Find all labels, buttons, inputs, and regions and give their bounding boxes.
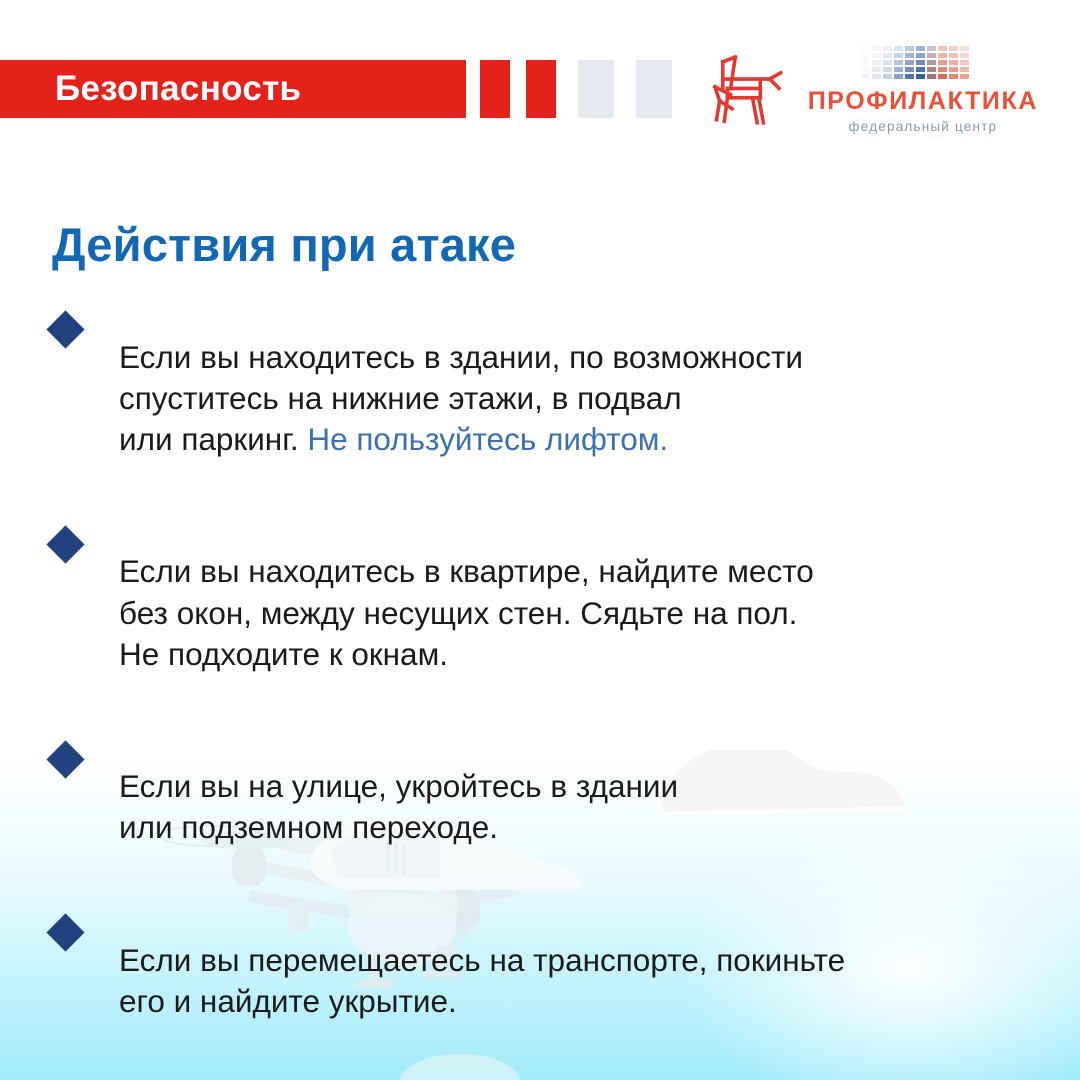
- logo-text-group: ПРОФИЛАКТИКА федеральный центр: [808, 46, 1038, 134]
- category-label: Безопасность: [0, 69, 301, 109]
- bar-gap-2: [510, 60, 526, 118]
- bar-gap-4: [614, 60, 636, 118]
- brand-logo: ПРОФИЛАКТИКА федеральный центр: [704, 46, 1038, 134]
- list-item-lead: Если вы на улице, укройтесь в здании или…: [119, 768, 678, 845]
- header-category-bar: Безопасность: [0, 60, 672, 118]
- list-item: Если вы находитесь в квартире, найдите м…: [52, 520, 1042, 707]
- logo-wordmark: ПРОФИЛАКТИКА: [808, 89, 1038, 114]
- list-item-text: Если вы находитесь в квартире, найдите м…: [119, 551, 1042, 675]
- diamond-bullet-icon: [46, 525, 84, 563]
- diamond-bullet-icon: [46, 740, 84, 778]
- pixel-grid-icon: [861, 46, 985, 84]
- advice-bullet-list: Если вы находитесь в здании, по возможно…: [52, 305, 1042, 1080]
- page-title: Действия при атаке: [52, 217, 516, 272]
- bar-gap-1: [466, 60, 480, 118]
- list-item-lead: Если вы находитесь в квартире, найдите м…: [119, 553, 814, 672]
- list-item: Если вы перемещаетесь на транспорте, пок…: [52, 908, 1042, 1054]
- list-item: Если вы находитесь в здании, по возможно…: [52, 305, 1042, 492]
- category-banner: Безопасность: [0, 60, 466, 118]
- bar-segment-gray-2: [636, 60, 672, 118]
- diamond-bullet-icon: [46, 310, 84, 348]
- bar-gap-3: [556, 60, 578, 118]
- list-item-text: Если вы на улице, укройтесь в здании или…: [119, 766, 1042, 849]
- bar-segment-red-2: [526, 60, 556, 118]
- list-item-text: Если вы перемещаетесь на транспорте, пок…: [119, 940, 1042, 1023]
- poster-canvas: Безопасность: [0, 0, 1080, 1080]
- diamond-bullet-icon: [46, 913, 84, 951]
- logo-subtitle: федеральный центр: [848, 119, 997, 134]
- bar-segment-gray-1: [578, 60, 614, 118]
- horse-line-art-icon: [704, 52, 790, 128]
- bar-segment-red-1: [480, 60, 510, 118]
- list-item-text: Если вы находитесь в здании, по возможно…: [119, 337, 1042, 461]
- list-item: Если вы на улице, укройтесь в здании или…: [52, 735, 1042, 881]
- list-item-accent: Не пользуйтесь лифтом.: [307, 421, 668, 457]
- list-item-lead: Если вы перемещаетесь на транспорте, пок…: [119, 942, 845, 1019]
